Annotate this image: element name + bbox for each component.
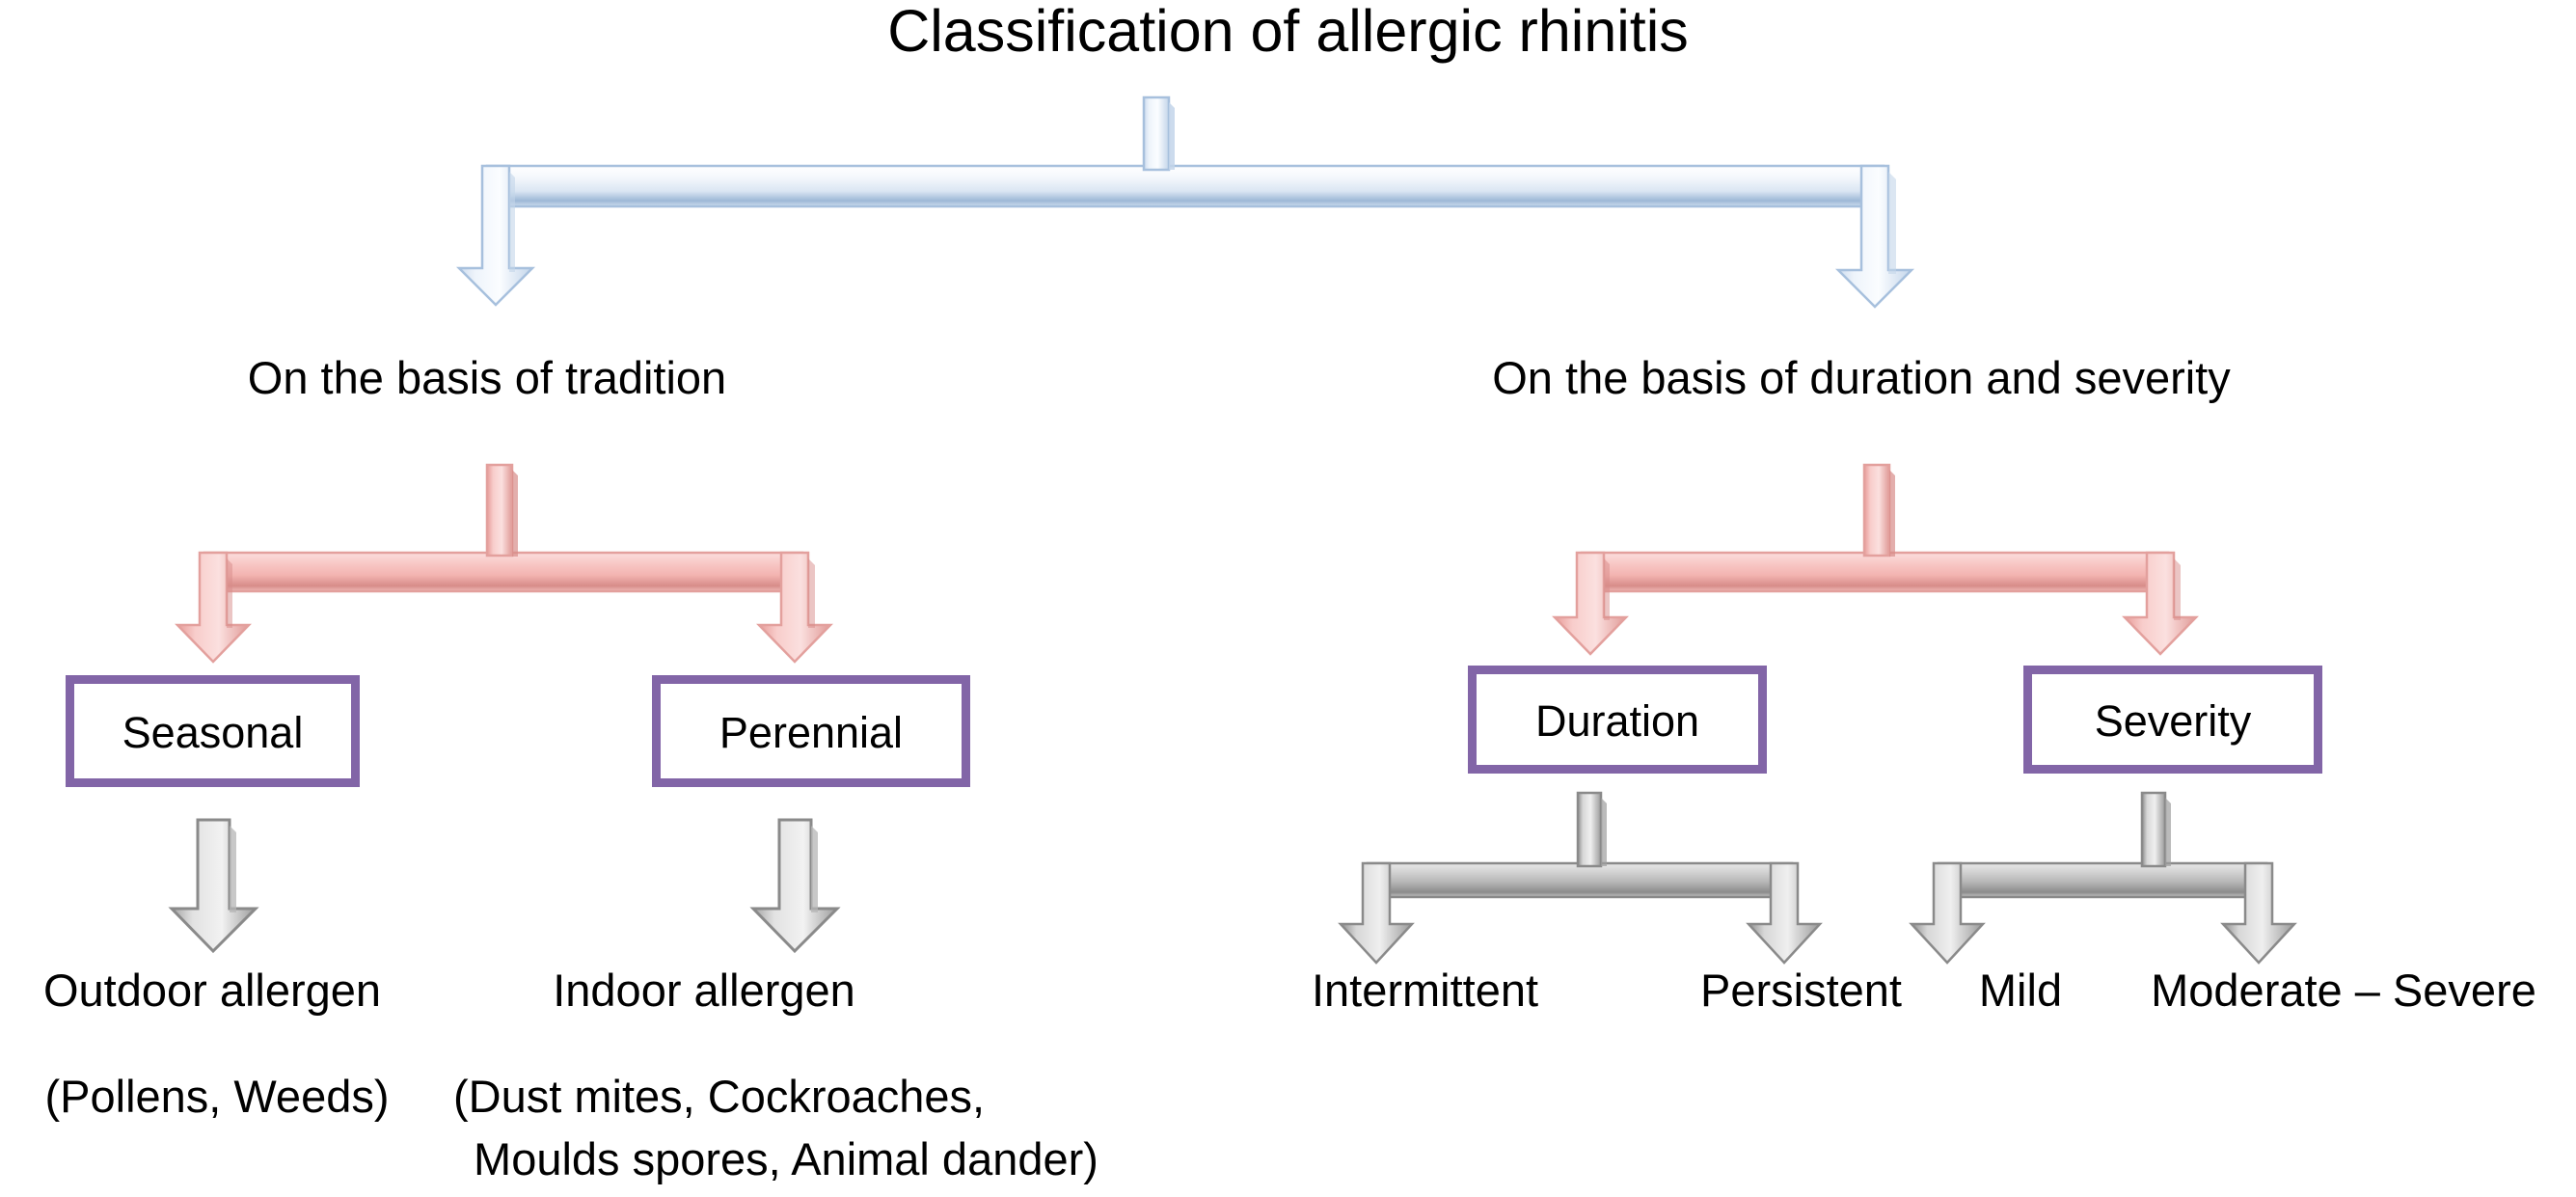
note-indoor-examples-line2: Moulds spores, Animal dander)	[395, 1136, 1177, 1182]
node-box-duration[interactable]: Duration	[1468, 666, 1767, 774]
leaf-label-mild: Mild	[1929, 967, 2112, 1013]
node-box-perennial[interactable]: Perennial	[652, 675, 970, 787]
leaf-label-persistent: Persistent	[1630, 967, 1972, 1013]
duration-fork-arrow	[1341, 793, 1820, 963]
page-title: Classification of allergic rhinitis	[0, 2, 2576, 61]
node-label-duration: Duration	[1535, 699, 1699, 743]
leaf-label-intermittent: Intermittent	[1234, 967, 1615, 1013]
diagram-canvas: Classification of allergic rhinitis	[0, 0, 2576, 1197]
node-label-severity: Severity	[2095, 699, 2252, 743]
note-outdoor-examples: (Pollens, Weeds)	[0, 1074, 434, 1119]
seasonal-down-arrow	[172, 820, 256, 951]
leaf-label-indoor-allergen: Indoor allergen	[434, 967, 974, 1013]
root-fork-arrow	[459, 97, 1912, 307]
branch-label-duration-severity: On the basis of duration and severity	[1374, 355, 2348, 400]
perennial-down-arrow	[753, 820, 837, 951]
node-box-seasonal[interactable]: Seasonal	[66, 675, 360, 787]
duration-severity-fork-arrow	[1555, 465, 2196, 654]
tradition-fork-arrow	[177, 465, 830, 662]
node-box-severity[interactable]: Severity	[2023, 666, 2322, 774]
severity-fork-arrow	[1912, 793, 2294, 963]
node-label-perennial: Perennial	[719, 711, 903, 754]
node-label-seasonal: Seasonal	[122, 711, 304, 754]
leaf-label-moderate-severe: Moderate – Severe	[2112, 967, 2575, 1013]
branch-label-tradition: On the basis of tradition	[0, 355, 974, 400]
note-indoor-examples-line1: (Dust mites, Cockroaches,	[453, 1074, 1128, 1119]
connector-layer	[0, 0, 2576, 1197]
leaf-label-outdoor-allergen: Outdoor allergen	[0, 967, 424, 1013]
